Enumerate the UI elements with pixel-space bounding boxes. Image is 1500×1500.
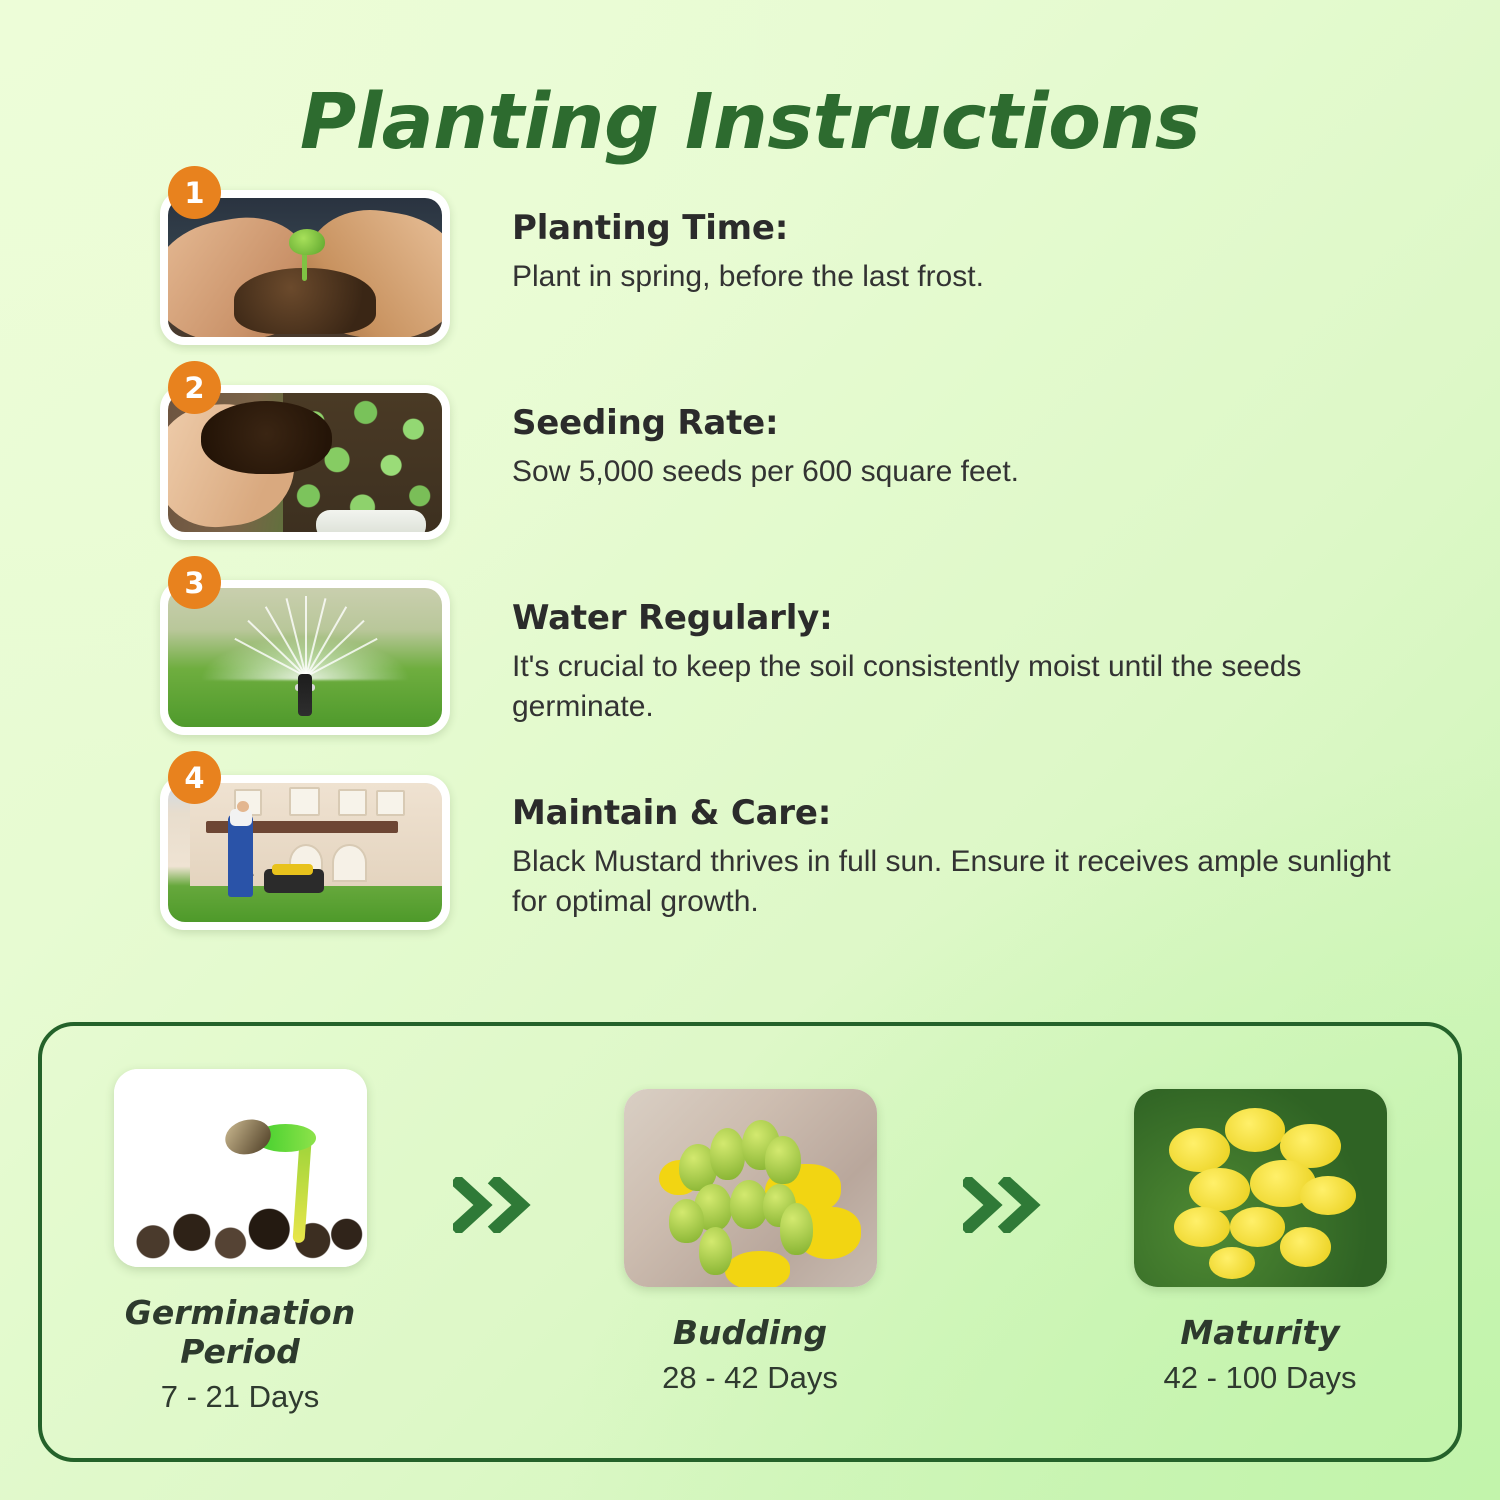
timeline-image-germination	[114, 1069, 367, 1267]
double-chevron-right-icon	[447, 1177, 543, 1233]
step-image-3	[168, 588, 442, 727]
step-body: Sow 5,000 seeds per 600 square feet.	[512, 452, 1432, 492]
timeline-stage-days: 7 - 21 Days	[90, 1379, 390, 1415]
step-heading: Planting Time:	[512, 208, 1462, 248]
planting-instructions-infographic: Planting Instructions 1 Planting Time: P…	[0, 0, 1500, 1500]
step-text-1: Planting Time: Plant in spring, before t…	[512, 208, 1462, 297]
growth-timeline: Germination Period 7 - 21 Days	[42, 1026, 1458, 1458]
page-title: Planting Instructions	[0, 78, 1500, 167]
timeline-image-maturity	[1134, 1089, 1387, 1287]
step-heading: Water Regularly:	[512, 598, 1462, 638]
step-text-4: Maintain & Care: Black Mustard thrives i…	[512, 793, 1462, 922]
growth-timeline-panel: Germination Period 7 - 21 Days	[38, 1022, 1462, 1462]
step-media-2: 2	[160, 385, 450, 540]
step-number-badge: 3	[168, 556, 221, 609]
step-media-4: 4	[160, 775, 450, 930]
step-number-badge: 2	[168, 361, 221, 414]
step-number-badge: 1	[168, 166, 221, 219]
step-text-3: Water Regularly: It's crucial to keep th…	[512, 598, 1462, 727]
steps-list: 1 Planting Time: Plant in spring, before…	[0, 190, 1500, 970]
timeline-stage-maturity: Maturity 42 - 100 Days	[1110, 1089, 1410, 1396]
step-body: It's crucial to keep the soil consistent…	[512, 647, 1432, 727]
timeline-stage-germination: Germination Period 7 - 21 Days	[90, 1069, 390, 1415]
step-body: Plant in spring, before the last frost.	[512, 257, 1432, 297]
timeline-stage-label: Budding	[600, 1313, 900, 1352]
step-media-1: 1	[160, 190, 450, 345]
step-image-1	[168, 198, 442, 337]
step-text-2: Seeding Rate: Sow 5,000 seeds per 600 sq…	[512, 403, 1462, 492]
step-media-3: 3	[160, 580, 450, 735]
step-heading: Maintain & Care:	[512, 793, 1462, 833]
step-item: 4 Maintain & Care: Black Mustard thrives…	[0, 775, 1500, 970]
double-chevron-right-icon	[957, 1177, 1053, 1233]
step-item: 2 Seeding Rate: Sow 5,000 seeds per 600 …	[0, 385, 1500, 580]
timeline-stage-days: 28 - 42 Days	[600, 1360, 900, 1396]
step-body: Black Mustard thrives in full sun. Ensur…	[512, 842, 1432, 922]
timeline-image-budding	[624, 1089, 877, 1287]
timeline-stage-days: 42 - 100 Days	[1110, 1360, 1410, 1396]
step-heading: Seeding Rate:	[512, 403, 1462, 443]
timeline-stage-label: Maturity	[1110, 1313, 1410, 1352]
timeline-stage-label: Germination Period	[90, 1293, 390, 1371]
step-item: 3 Water Regularly: It's crucial to keep …	[0, 580, 1500, 775]
step-number-badge: 4	[168, 751, 221, 804]
timeline-stage-budding: Budding 28 - 42 Days	[600, 1089, 900, 1396]
step-image-2	[168, 393, 442, 532]
step-item: 1 Planting Time: Plant in spring, before…	[0, 190, 1500, 385]
step-image-4	[168, 783, 442, 922]
